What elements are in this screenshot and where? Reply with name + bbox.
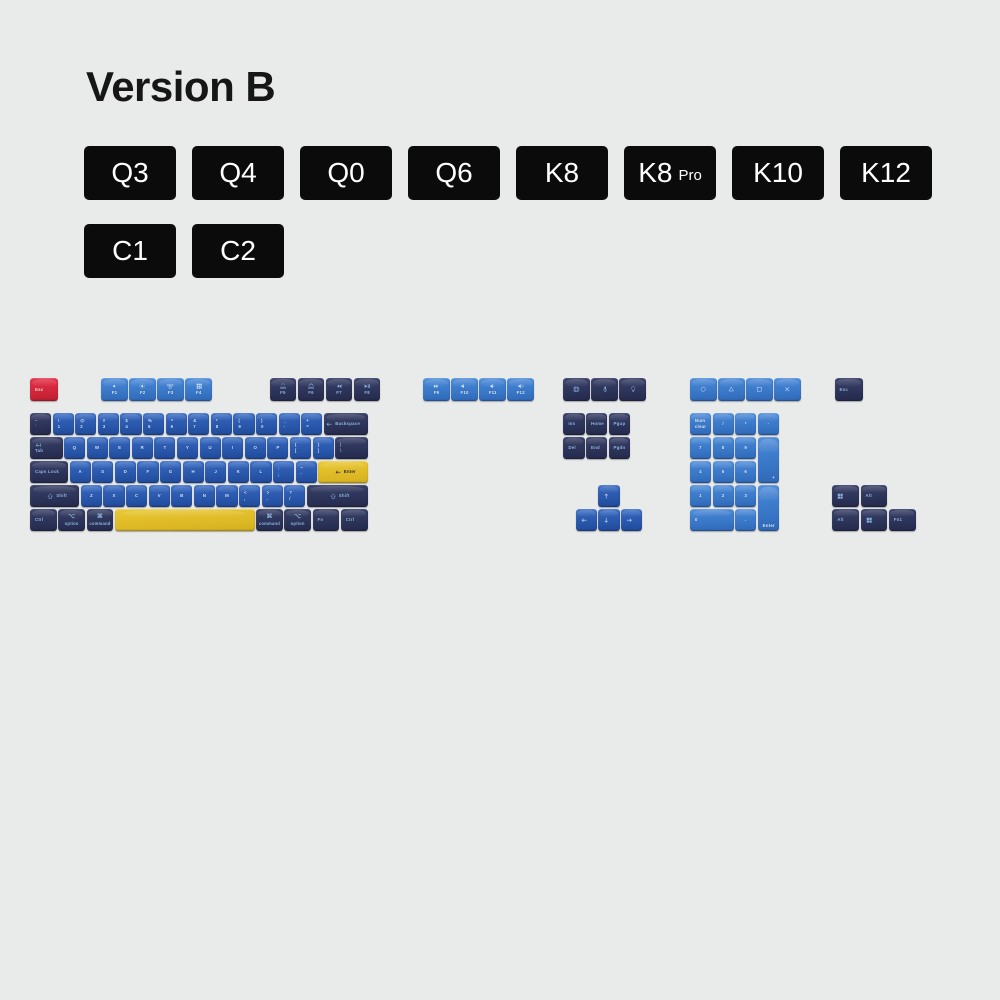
- key-M[interactable]: M: [216, 485, 237, 508]
- badge-label: Q4: [219, 157, 256, 189]
- key-legend-main: Esc: [35, 387, 43, 393]
- key-L[interactable]: L: [250, 461, 271, 484]
- key-spacebar[interactable]: [115, 509, 255, 532]
- arrow-left-icon: [581, 517, 587, 523]
- key-fn1[interactable]: Fn1: [889, 509, 916, 532]
- key-legend-top: ⌘: [266, 514, 272, 522]
- key-;[interactable]: :;: [273, 461, 294, 484]
- badge-q0[interactable]: Q0: [300, 146, 392, 200]
- key-K[interactable]: K: [228, 461, 249, 484]
- key-legend: #3: [98, 413, 119, 436]
- key-S[interactable]: S: [92, 461, 113, 484]
- key-legend: [861, 509, 888, 532]
- key-legend-main: F6: [308, 390, 314, 396]
- key-shift-right[interactable]: Shift: [307, 485, 368, 508]
- key-legend: ⌥option: [58, 509, 85, 532]
- key-backspace[interactable]: Backspace: [324, 413, 368, 436]
- key-legend: E: [109, 437, 130, 460]
- badge-c1[interactable]: C1: [84, 224, 176, 278]
- key-legend: /: [713, 413, 734, 436]
- key-lightbulb[interactable]: [619, 378, 646, 401]
- key-num-6[interactable]: ^6: [166, 413, 187, 436]
- snipping-tool-icon: [573, 386, 579, 392]
- key-legend-main: Z: [90, 493, 93, 499]
- key-O[interactable]: O: [245, 437, 266, 460]
- key-legend-main: 3: [744, 493, 747, 499]
- key-f12[interactable]: F12: [507, 378, 534, 401]
- key-legend: F2: [129, 378, 156, 401]
- key-num-0[interactable]: )0: [256, 413, 277, 436]
- square-icon: [756, 386, 762, 392]
- key-legend: Pgdn: [609, 437, 630, 460]
- key-delete[interactable]: Del: [563, 437, 584, 460]
- key-legend: Fn: [313, 509, 340, 532]
- key-f4[interactable]: F4: [185, 378, 212, 401]
- key-legend: 8: [713, 437, 734, 460]
- key-legend-main: *: [745, 421, 747, 427]
- key-legend: F12: [507, 378, 534, 401]
- key-end[interactable]: End: [586, 437, 607, 460]
- key-legend: [746, 378, 773, 401]
- key-f2[interactable]: F2: [129, 378, 156, 401]
- key-legend-main: F4: [196, 390, 202, 396]
- key-legend-main: 9: [744, 445, 747, 451]
- key-legend: F8: [354, 378, 381, 401]
- key-legend-main: A: [78, 469, 81, 475]
- key-caps-lock[interactable]: Caps Lock: [30, 461, 68, 484]
- key-numpad-7[interactable]: 7: [690, 437, 711, 460]
- key-arrow-down[interactable]: [598, 509, 619, 532]
- key-legend-main: B: [180, 493, 183, 499]
- key-legend-bottom: ,: [244, 496, 245, 502]
- key-legend-main: -: [767, 421, 769, 427]
- key-legend-main: Ins: [568, 421, 575, 427]
- key-legend: D: [115, 461, 136, 484]
- key-legend-bottom: ': [301, 472, 302, 478]
- key-numpad-3[interactable]: 3: [735, 485, 756, 508]
- key-legend-main: Alt: [866, 493, 872, 499]
- cross-icon: [784, 386, 790, 392]
- key-D[interactable]: D: [115, 461, 136, 484]
- key-numpad-9[interactable]: 9: [735, 437, 756, 460]
- key-legend: F3: [157, 378, 184, 401]
- key-legend-bottom: 1: [58, 424, 61, 430]
- key-legend: 6: [735, 461, 756, 484]
- key-arrow-left[interactable]: [576, 509, 597, 532]
- key-num--[interactable]: _-: [279, 413, 300, 436]
- key-legend: !1: [53, 413, 74, 436]
- key-legend: F1: [101, 378, 128, 401]
- key-legend-main: 7: [699, 445, 702, 451]
- key-legend: Ctrl: [30, 509, 57, 532]
- key-legend-main: Shift: [56, 493, 67, 499]
- key-legend-main: Home: [591, 421, 604, 427]
- key-I[interactable]: I: [222, 437, 243, 460]
- key-legend-main: Ctrl: [346, 517, 354, 523]
- key-legend-bottom: ;: [278, 472, 280, 478]
- key-legend-main: T: [163, 445, 166, 451]
- key-legend: [598, 509, 619, 532]
- key-microphone[interactable]: [591, 378, 618, 401]
- key-B[interactable]: B: [171, 485, 192, 508]
- key-legend: *: [735, 413, 756, 436]
- key-alt-top[interactable]: Alt: [861, 485, 888, 508]
- key-f1[interactable]: F1: [101, 378, 128, 401]
- key-legend: [718, 378, 745, 401]
- badge-q3[interactable]: Q3: [84, 146, 176, 200]
- circle-icon: [700, 386, 706, 392]
- key-numpad-enter[interactable]: Enter: [758, 485, 779, 532]
- key-P[interactable]: P: [267, 437, 288, 460]
- key-cross[interactable]: [774, 378, 801, 401]
- key-arrow-up[interactable]: [598, 485, 619, 508]
- badge-k12[interactable]: K12: [840, 146, 932, 200]
- key-legend-bottom: /: [289, 496, 290, 502]
- key-num-1[interactable]: !1: [53, 413, 74, 436]
- key-legend: 4: [690, 461, 711, 484]
- key-f8[interactable]: F8: [354, 378, 381, 401]
- key-legend: W: [87, 437, 108, 460]
- key-legend: P: [267, 437, 288, 460]
- key-insert[interactable]: Ins: [563, 413, 584, 436]
- key-legend-bottom: `: [35, 424, 37, 430]
- shift-up-icon: [47, 493, 53, 499]
- key-W[interactable]: W: [87, 437, 108, 460]
- key-legend-main: Y: [186, 445, 189, 451]
- key-legend-main: 5: [722, 469, 725, 475]
- key-legend-main: X: [112, 493, 115, 499]
- key-tab[interactable]: Tab: [30, 437, 63, 460]
- key-X[interactable]: X: [103, 485, 124, 508]
- key-legend-main: E: [118, 445, 121, 451]
- key-numpad-8[interactable]: 8: [713, 437, 734, 460]
- key-numpad-2[interactable]: 2: [713, 485, 734, 508]
- arrow-down-icon: [603, 517, 609, 523]
- key-legend: <,: [239, 485, 260, 508]
- key-E[interactable]: E: [109, 437, 130, 460]
- badge-label: C2: [220, 235, 256, 267]
- key-legend: [690, 378, 717, 401]
- key-Q[interactable]: Q: [64, 437, 85, 460]
- key-legend-main: Fn1: [894, 517, 902, 523]
- key-legend-main: G: [169, 469, 173, 475]
- windows-icon: [866, 517, 872, 523]
- key-num-`[interactable]: ~`: [30, 413, 51, 436]
- key-legend: [563, 378, 590, 401]
- key-f10[interactable]: F10: [451, 378, 478, 401]
- key-triangle[interactable]: [718, 378, 745, 401]
- key-legend-bottom: =: [306, 424, 309, 430]
- key-legend: ⌥option: [284, 509, 311, 532]
- badge-label: Q0: [327, 157, 364, 189]
- key-V[interactable]: V: [149, 485, 170, 508]
- key-legend: $4: [120, 413, 141, 436]
- key-legend: R: [132, 437, 153, 460]
- key-Y[interactable]: Y: [177, 437, 198, 460]
- key-G[interactable]: G: [160, 461, 181, 484]
- key-legend: Ins: [563, 413, 584, 436]
- key-legend-main: F1: [112, 390, 118, 396]
- key-f7[interactable]: F7: [326, 378, 353, 401]
- key-numpad-1[interactable]: 1: [690, 485, 711, 508]
- key-legend: M: [216, 485, 237, 508]
- key-.[interactable]: >.: [262, 485, 283, 508]
- key-escape-alt[interactable]: Esc: [835, 378, 863, 401]
- key-legend: %5: [143, 413, 164, 436]
- key-legend: [576, 509, 597, 532]
- key-legend-main: F10: [461, 390, 469, 396]
- key-option-right[interactable]: ⌥option: [284, 509, 311, 532]
- key-legend-bottom: clear: [695, 424, 706, 430]
- key-numpad-divide[interactable]: /: [713, 413, 734, 436]
- key-legend: Y: [177, 437, 198, 460]
- key-command-right[interactable]: ⌘command: [256, 509, 283, 532]
- key-legend-main: F8: [364, 390, 370, 396]
- key-legend: F4: [185, 378, 212, 401]
- key-legend-main: .: [745, 517, 746, 523]
- key-legend: ⌘command: [256, 509, 283, 532]
- key-legend-bottom: command: [89, 521, 110, 526]
- key-J[interactable]: J: [205, 461, 226, 484]
- key-R[interactable]: R: [132, 437, 153, 460]
- key-ctrl-left[interactable]: Ctrl: [30, 509, 57, 532]
- key-shift-left[interactable]: Shift: [30, 485, 79, 508]
- key-legend: @2: [75, 413, 96, 436]
- key-H[interactable]: H: [183, 461, 204, 484]
- key-legend: ^6: [166, 413, 187, 436]
- badge-sublabel: Pro: [678, 167, 701, 184]
- key-legend-main: F3: [168, 390, 174, 396]
- key-f11[interactable]: F11: [479, 378, 506, 401]
- key-escape[interactable]: Esc: [30, 378, 58, 401]
- key-C[interactable]: C: [126, 485, 147, 508]
- key-legend: [621, 509, 642, 532]
- key-legend-main: Alt: [837, 517, 843, 523]
- key-backslash[interactable]: |\: [335, 437, 368, 460]
- key-legend: >.: [262, 485, 283, 508]
- key-square[interactable]: [746, 378, 773, 401]
- key-num-7[interactable]: &7: [188, 413, 209, 436]
- badge-row-primary: Q3 Q4 Q0 Q6 K8 K8Pro K10 K12: [84, 146, 932, 200]
- key-U[interactable]: U: [200, 437, 221, 460]
- key-num-8[interactable]: *8: [211, 413, 232, 436]
- key-legend: 2: [713, 485, 734, 508]
- key-legend: V: [149, 485, 170, 508]
- key-legend-bottom: 8: [216, 424, 219, 430]
- key-legend: (9: [233, 413, 254, 436]
- key-legend: Alt: [832, 509, 859, 532]
- badge-k10[interactable]: K10: [732, 146, 824, 200]
- key-f3[interactable]: F3: [157, 378, 184, 401]
- key-legend: _-: [279, 413, 300, 436]
- key-legend-bottom: 6: [171, 424, 174, 430]
- key-windows-bottom[interactable]: [861, 509, 888, 532]
- badge-q4[interactable]: Q4: [192, 146, 284, 200]
- key-legend-main: +: [772, 475, 775, 481]
- key-legend: U: [200, 437, 221, 460]
- key-legend-main: /: [722, 421, 723, 427]
- key-,[interactable]: <,: [239, 485, 260, 508]
- key-num-2[interactable]: @2: [75, 413, 96, 436]
- key-legend-main: Del: [568, 445, 575, 451]
- key-legend-main: F11: [489, 390, 497, 396]
- key-f5[interactable]: F5: [270, 378, 297, 401]
- key-legend: Pgup: [609, 413, 630, 436]
- key-legend: G: [160, 461, 181, 484]
- key-legend: &7: [188, 413, 209, 436]
- key-legend: Enter: [318, 461, 367, 484]
- key-legend-bottom: 0: [261, 424, 264, 430]
- key-legend: N: [194, 485, 215, 508]
- key-legend-main: Tab: [35, 448, 43, 454]
- key-legend-top: ⌥: [294, 514, 301, 522]
- key-f9[interactable]: F9: [423, 378, 450, 401]
- key-legend: [598, 485, 619, 508]
- key-legend: Shift: [30, 485, 79, 508]
- badge-k8-pro[interactable]: K8Pro: [624, 146, 716, 200]
- key-legend-main: F12: [517, 390, 525, 396]
- key-alt-bottom[interactable]: Alt: [832, 509, 859, 532]
- key-N[interactable]: N: [194, 485, 215, 508]
- key-num-5[interactable]: %5: [143, 413, 164, 436]
- key-fn[interactable]: Fn: [313, 509, 340, 532]
- key-legend: )0: [256, 413, 277, 436]
- key-legend: B: [171, 485, 192, 508]
- key-legend: H: [183, 461, 204, 484]
- key-legend-main: D: [124, 469, 127, 475]
- key-legend: ?/: [284, 485, 305, 508]
- key-legend: X: [103, 485, 124, 508]
- key-legend: Z: [81, 485, 102, 508]
- key-legend: [619, 378, 646, 401]
- key-legend: I: [222, 437, 243, 460]
- key-numpad-5[interactable]: 5: [713, 461, 734, 484]
- key-legend-bottom: \: [340, 448, 341, 454]
- key-/[interactable]: ?/: [284, 485, 305, 508]
- key-legend: Enter: [758, 485, 779, 532]
- key-legend-bottom: .: [267, 496, 268, 502]
- key-legend-main: Esc: [840, 387, 848, 393]
- key-numpad-decimal[interactable]: .: [735, 509, 756, 532]
- key-legend: *8: [211, 413, 232, 436]
- key-snipping-tool[interactable]: [563, 378, 590, 401]
- key-legend: [115, 509, 255, 532]
- key-legend-main: F5: [280, 390, 286, 396]
- key-legend-main: F: [146, 469, 149, 475]
- badge-k8[interactable]: K8: [516, 146, 608, 200]
- key-][interactable]: }]: [313, 437, 334, 460]
- key-legend: "': [296, 461, 317, 484]
- key-legend: |\: [335, 437, 368, 460]
- key-windows-top[interactable]: [832, 485, 859, 508]
- badge-label: K8: [545, 157, 579, 189]
- key-command-left[interactable]: ⌘command: [87, 509, 114, 532]
- key-legend: Tab: [30, 437, 63, 460]
- key-legend-main: Enter: [763, 523, 775, 529]
- key-legend-main: 4: [699, 469, 702, 475]
- key-legend-bottom: command: [259, 521, 280, 526]
- key-Z[interactable]: Z: [81, 485, 102, 508]
- key-A[interactable]: A: [70, 461, 91, 484]
- badge-c2[interactable]: C2: [192, 224, 284, 278]
- key-home[interactable]: Home: [586, 413, 607, 436]
- key-num-4[interactable]: $4: [120, 413, 141, 436]
- key-legend-main: Shift: [339, 493, 350, 499]
- key-numpad-0[interactable]: 0: [690, 509, 734, 532]
- key-numpad-4[interactable]: 4: [690, 461, 711, 484]
- key-enter[interactable]: Enter: [318, 461, 367, 484]
- key-legend-bottom: 2: [80, 424, 83, 430]
- key-[[interactable]: {[: [290, 437, 311, 460]
- key-numpad-multiply[interactable]: *: [735, 413, 756, 436]
- key-legend: {[: [290, 437, 311, 460]
- key-legend: 3: [735, 485, 756, 508]
- key-pageup[interactable]: Pgup: [609, 413, 630, 436]
- key-legend: A: [70, 461, 91, 484]
- key-legend-main: L: [259, 469, 262, 475]
- key-legend-main: J: [214, 469, 217, 475]
- key-legend-top: ⌥: [68, 514, 75, 522]
- key-legend: F11: [479, 378, 506, 401]
- key-legend-main: R: [141, 445, 144, 451]
- key-legend-main: F7: [336, 390, 342, 396]
- key-numpad-6[interactable]: 6: [735, 461, 756, 484]
- key-legend: Numclear: [690, 413, 711, 436]
- key-legend-bottom: 7: [193, 424, 196, 430]
- key-circle[interactable]: [690, 378, 717, 401]
- key-arrow-right[interactable]: [621, 509, 642, 532]
- key-num-=[interactable]: +=: [301, 413, 322, 436]
- key-legend-main: Fn: [318, 517, 324, 523]
- key-legend: J: [205, 461, 226, 484]
- key-T[interactable]: T: [154, 437, 175, 460]
- key-legend-main: Ctrl: [35, 517, 43, 523]
- key-f6[interactable]: F6: [298, 378, 325, 401]
- key-legend-main: H: [191, 469, 194, 475]
- key-numpad-minus[interactable]: -: [758, 413, 779, 436]
- key-legend: Esc: [835, 378, 863, 401]
- key-F[interactable]: F: [137, 461, 158, 484]
- badge-label: Q6: [435, 157, 472, 189]
- key-num-3[interactable]: #3: [98, 413, 119, 436]
- keycap-set-diagram: EscF1F2F3F4F5F6F7F8F9F10F11F12Esc~`!1@2#…: [0, 362, 1000, 622]
- shift-up-icon: [330, 493, 336, 499]
- key-legend: F6: [298, 378, 325, 401]
- key-legend: F: [137, 461, 158, 484]
- key-legend-bottom: ]: [318, 448, 320, 454]
- key-legend-main: Enter: [344, 469, 356, 475]
- key-option-left[interactable]: ⌥option: [58, 509, 85, 532]
- badge-q6[interactable]: Q6: [408, 146, 500, 200]
- key-legend: Ctrl: [341, 509, 368, 532]
- key-legend-main: K: [237, 469, 240, 475]
- key-legend: End: [586, 437, 607, 460]
- badge-label: C1: [112, 235, 148, 267]
- key-legend: 7: [690, 437, 711, 460]
- key-ctrl-right[interactable]: Ctrl: [341, 509, 368, 532]
- key-pagedown[interactable]: Pgdn: [609, 437, 630, 460]
- key-numpad-plus[interactable]: +: [758, 437, 779, 484]
- key-legend-main: M: [225, 493, 229, 499]
- key-numlock-clear[interactable]: Numclear: [690, 413, 711, 436]
- key-legend: Backspace: [324, 413, 368, 436]
- key-num-9[interactable]: (9: [233, 413, 254, 436]
- key-legend: F7: [326, 378, 353, 401]
- key-'[interactable]: "': [296, 461, 317, 484]
- lightbulb-icon: [630, 386, 636, 392]
- key-legend: T: [154, 437, 175, 460]
- key-legend: F9: [423, 378, 450, 401]
